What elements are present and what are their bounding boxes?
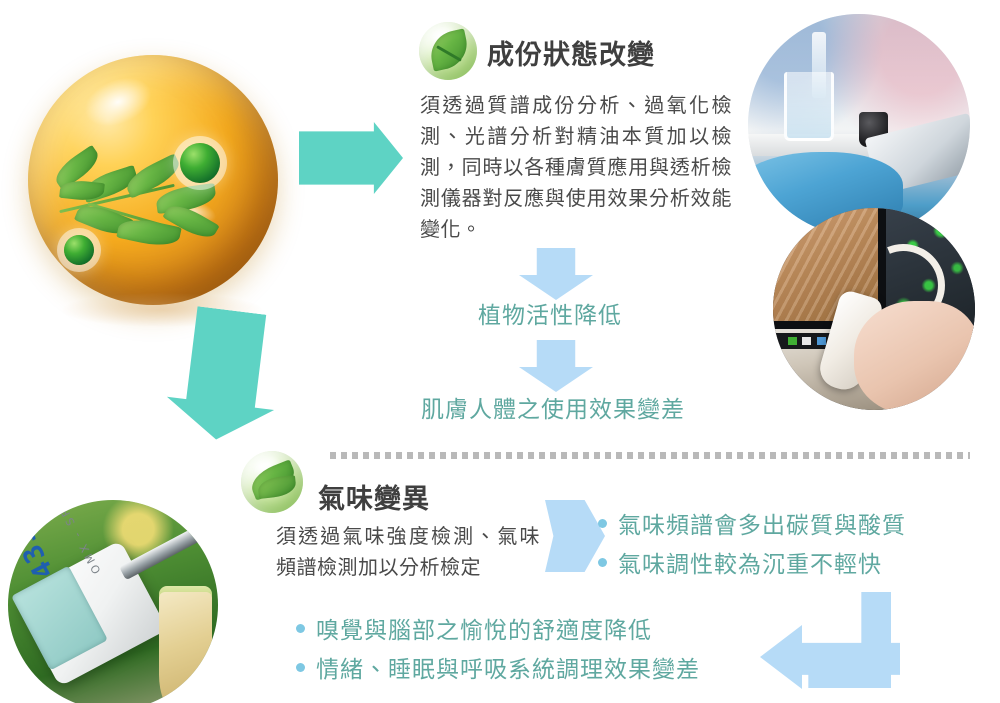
- section-body-composition: 須透過質譜成份分析、過氧化檢測、光譜分析對精油本質加以檢測，同時以各種膚質應用與…: [420, 90, 732, 245]
- arrow-right-teal-icon: [299, 122, 403, 194]
- bullet-label: 氣味調性較為沉重不輕快: [618, 545, 882, 579]
- arrow-down-blue-icon-2: [519, 340, 593, 392]
- oil-bead-large-icon: [180, 143, 220, 183]
- flow-step-skin-effect: 肌膚人體之使用效果變差: [421, 390, 685, 424]
- arrow-right-blue-icon: [545, 500, 605, 572]
- infographic-canvas: 成份狀態改變 須透過質譜成份分析、過氧化檢測、光譜分析對精油本質加以檢測，同時以…: [0, 0, 1000, 703]
- bullet-dot-icon: [296, 624, 305, 633]
- list-item: 氣味頻譜會多出碳質與酸質: [598, 506, 906, 540]
- oil-bead-small-icon: [64, 235, 94, 265]
- bullet-label: 情緒、睡眠與呼吸系統調理效果變差: [316, 650, 700, 684]
- bullet-dot-icon: [296, 663, 305, 672]
- section-title-odor: 氣味變異: [318, 477, 430, 516]
- section-divider: [330, 452, 970, 459]
- list-item: 氣味調性較為沉重不輕快: [598, 545, 906, 579]
- bullet-dot-icon: [598, 519, 607, 528]
- odor-meter-photo: 435 OMX - SRM: [8, 500, 218, 703]
- essential-oil-droplet-illustration: [28, 55, 288, 315]
- sphere-highlight-icon: [77, 68, 158, 135]
- leaf-sphere-icon-composition: [419, 22, 477, 80]
- bullet-dot-icon: [598, 558, 607, 567]
- section-body-odor: 須透過氣味強度檢測、氣味頻譜檢測加以分析檢定: [276, 521, 540, 583]
- arrow-down-blue-icon-1: [519, 248, 593, 300]
- skin-analyzer-photo: [773, 208, 975, 410]
- odor-bullets-right: 氣味頻譜會多出碳質與酸質 氣味調性較為沉重不輕快: [598, 506, 906, 584]
- list-item: 情緒、睡眠與呼吸系統調理效果變差: [296, 650, 700, 684]
- list-item: 嗅覺與腦部之愉悅的舒適度降低: [296, 611, 700, 645]
- odor-bullets-bottom: 嗅覺與腦部之愉悅的舒適度降低 情緒、睡眠與呼吸系統調理效果變差: [296, 611, 700, 689]
- flow-step-plant-activity: 植物活性降低: [478, 296, 622, 330]
- oil-sphere: [28, 55, 278, 305]
- bullet-label: 氣味頻譜會多出碳質與酸質: [618, 506, 906, 540]
- bullet-label: 嗅覺與腦部之愉悅的舒適度降低: [316, 611, 652, 645]
- leaf-sphere-icon-odor: [241, 451, 303, 513]
- section-title-composition: 成份狀態改變: [487, 33, 655, 72]
- laboratory-analysis-photo: [748, 14, 970, 236]
